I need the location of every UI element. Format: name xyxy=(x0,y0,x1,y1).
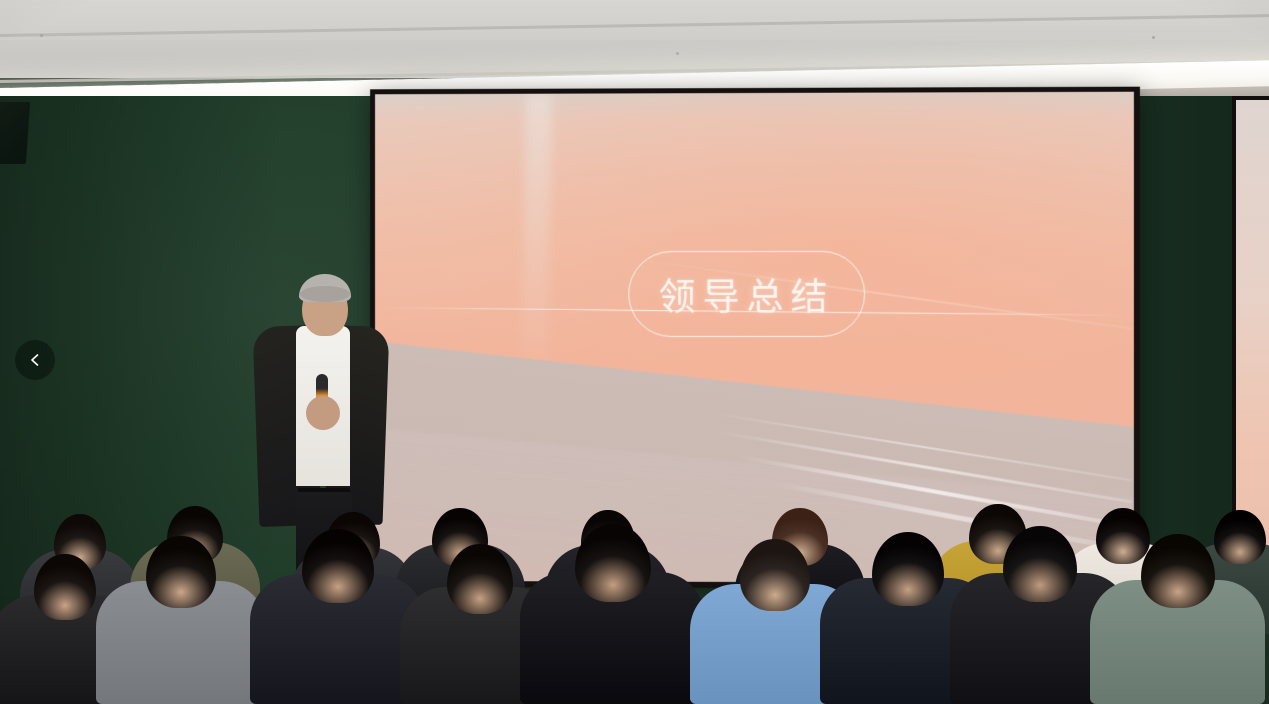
audience-person xyxy=(96,536,266,704)
audience-person-head xyxy=(575,524,651,602)
audience-person-head xyxy=(740,539,810,611)
audience-person-head xyxy=(447,544,513,614)
ceiling-fixture-dot xyxy=(40,34,43,37)
audience-person-head xyxy=(1003,526,1077,602)
audience-person-head xyxy=(34,554,96,620)
presenter-hands xyxy=(306,396,340,430)
audience-person xyxy=(250,529,425,704)
audience-person-head xyxy=(146,536,216,608)
prev-image-button[interactable] xyxy=(15,340,55,380)
audience-person xyxy=(1090,534,1265,704)
ceiling-panel-upper xyxy=(0,0,1269,44)
ceiling-fixture-dot xyxy=(676,52,679,55)
slide-title-pill: 领导总结 xyxy=(628,251,865,337)
chevron-left-icon xyxy=(27,352,43,368)
audience-person-head xyxy=(1141,534,1215,608)
ceiling xyxy=(0,0,1269,96)
photo-scene: 领导总结 伟 xyxy=(0,0,1269,704)
audience-person-head xyxy=(302,529,374,603)
audience-person xyxy=(520,524,705,704)
ceiling-fixture-dot xyxy=(1152,36,1155,39)
slide-title-text: 领导总结 xyxy=(659,267,835,321)
wall-speaker-unit xyxy=(0,102,30,164)
projector-light-streak xyxy=(521,94,552,384)
audience: 伟 xyxy=(0,430,1269,704)
audience-person-head xyxy=(872,532,944,606)
presenter-hair-shadow xyxy=(300,286,350,302)
